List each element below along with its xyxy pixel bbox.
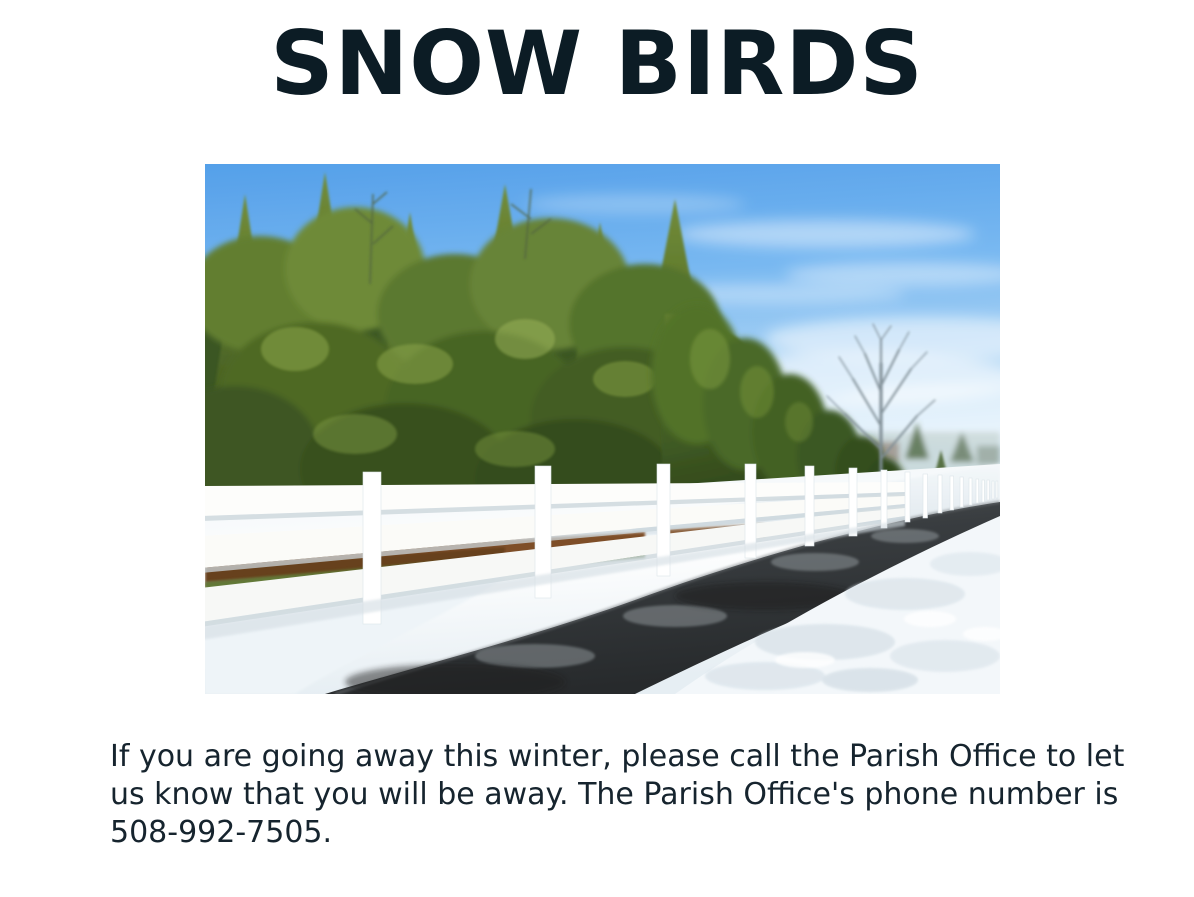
winter-landscape-photo bbox=[205, 164, 1000, 694]
page-title: SNOW BIRDS bbox=[0, 18, 1194, 110]
body-paragraph: If you are going away this winter, pleas… bbox=[110, 738, 1155, 852]
photo-overlay bbox=[205, 164, 1000, 694]
photo-illustration bbox=[205, 164, 1000, 694]
slide-canvas: SNOW BIRDS bbox=[0, 0, 1194, 897]
